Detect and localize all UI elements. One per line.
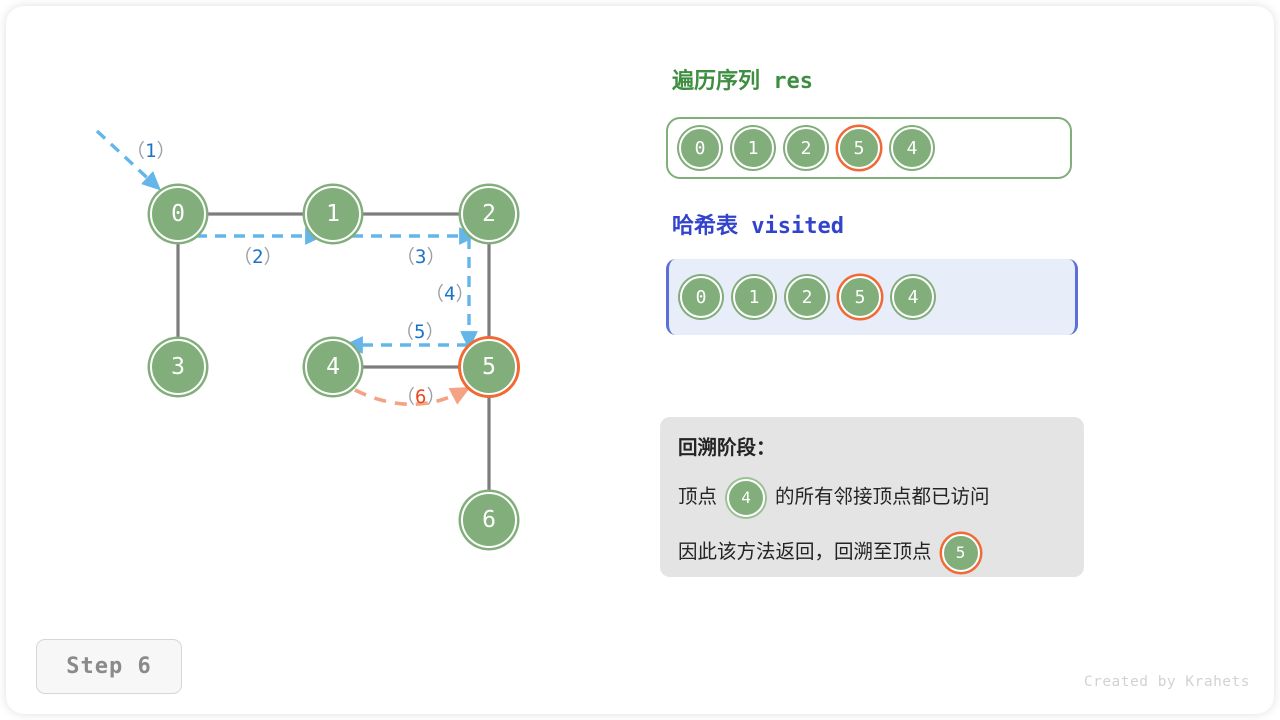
info-line-1: 顶点 4 的所有邻接顶点都已访问: [678, 479, 1064, 517]
info-box: 回溯阶段： 顶点 4 的所有邻接顶点都已访问 因此该方法返回，回溯至顶点 5: [660, 417, 1084, 577]
info-chip-vertex-5: 5: [942, 534, 980, 572]
res-chip-1: 1: [732, 127, 774, 169]
graph-node-5: 5: [461, 339, 517, 395]
visited-chip-1: 1: [733, 276, 775, 318]
info-line-2: 因此该方法返回，回溯至顶点 5: [678, 534, 1064, 572]
step-label-2: （2）: [233, 242, 282, 269]
graph-node-2: 2: [461, 186, 517, 242]
res-section-title: 遍历序列 res: [672, 63, 813, 95]
visited-chip-0: 0: [680, 276, 722, 318]
step-label-3: （3）: [396, 242, 445, 269]
res-chip-2: 2: [785, 127, 827, 169]
graph-node-6: 6: [461, 492, 517, 548]
info-line-1-before: 顶点: [678, 488, 717, 508]
credit-text: Created by Krahets: [1084, 674, 1250, 690]
res-chip-3: 5: [838, 127, 880, 169]
graph-node-4: 4: [305, 339, 361, 395]
step-label-5: （5）: [395, 317, 444, 344]
graph-diagram: [0, 0, 620, 620]
screenshot-root: 0123456 （1）（2）（3）（4）（5）（6） 遍历序列 res 0125…: [0, 0, 1280, 720]
visited-chip-2: 2: [786, 276, 828, 318]
traversal-arrows: [97, 131, 470, 345]
step-label-1: （1）: [126, 136, 175, 163]
info-chip-vertex-4: 4: [727, 479, 765, 517]
graph-node-3: 3: [150, 339, 206, 395]
step-label-4: （4）: [425, 279, 474, 306]
visited-hashset-box: 01254: [666, 259, 1078, 335]
step-label-6: （6）: [396, 382, 445, 409]
res-array-box: 01254: [666, 117, 1072, 179]
step-badge: Step 6: [36, 639, 182, 694]
visited-section-title: 哈希表 visited: [672, 208, 844, 240]
info-line-1-after: 的所有邻接顶点都已访问: [775, 488, 990, 508]
graph-node-0: 0: [150, 186, 206, 242]
graph-edges-layer: [0, 0, 620, 620]
right-panel: 遍历序列 res 01254 哈希表 visited 01254 回溯阶段： 顶…: [660, 0, 1280, 720]
visited-chip-4: 4: [892, 276, 934, 318]
info-line-2-before: 因此该方法返回，回溯至顶点: [678, 543, 932, 563]
visited-chip-3: 5: [839, 276, 881, 318]
graph-node-1: 1: [305, 186, 361, 242]
res-chip-0: 0: [679, 127, 721, 169]
info-heading: 回溯阶段：: [678, 439, 1064, 459]
res-chip-4: 4: [891, 127, 933, 169]
